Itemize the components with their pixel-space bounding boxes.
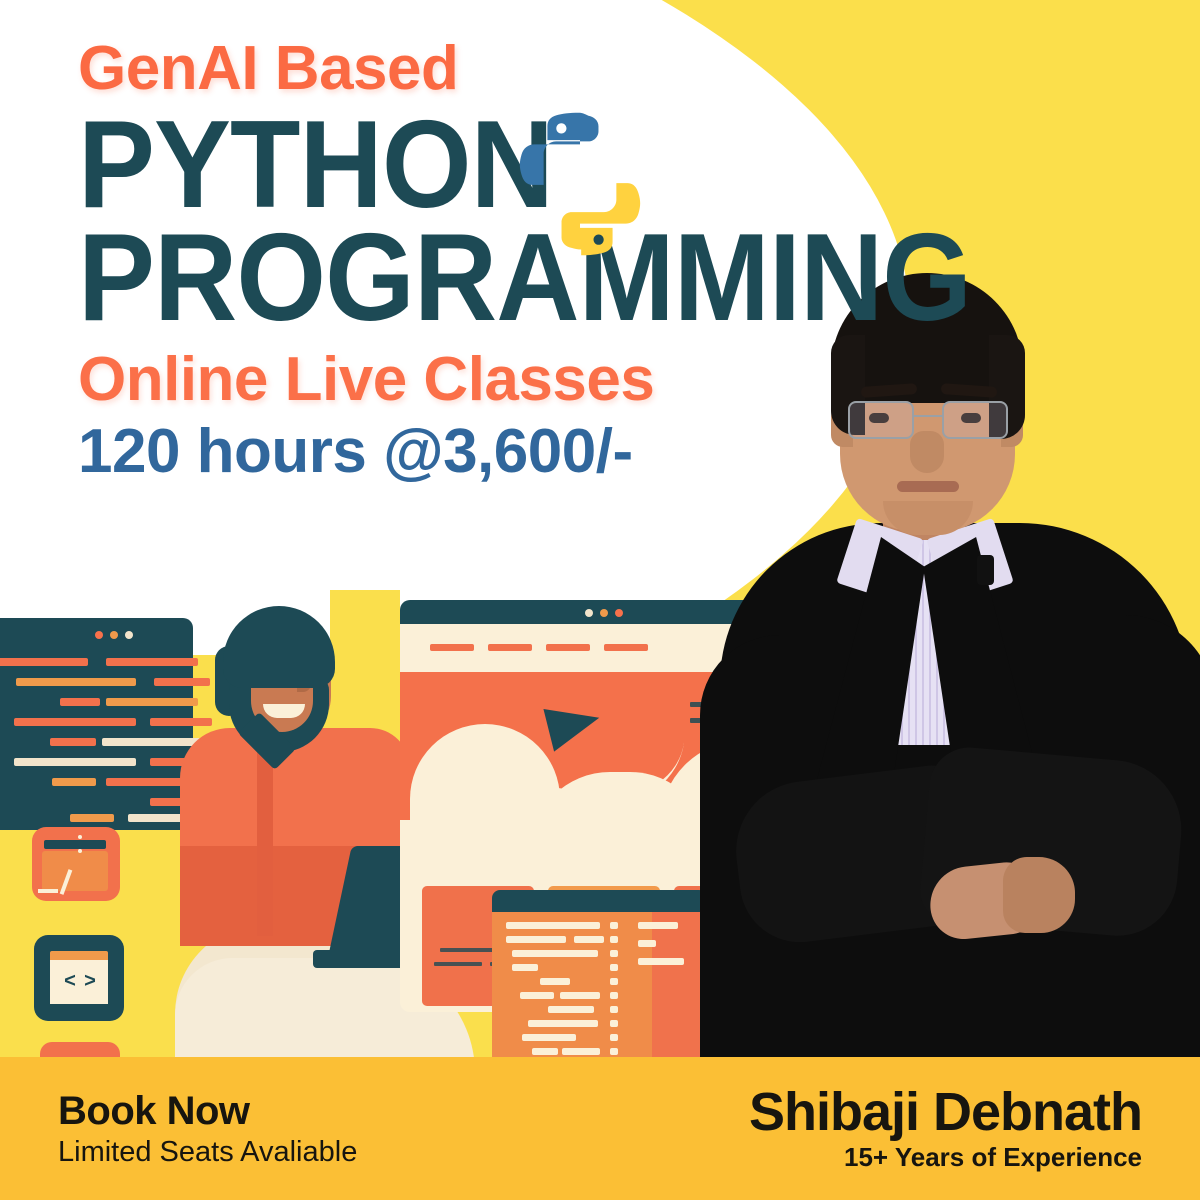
code-editor-window bbox=[0, 618, 193, 830]
headline-hours-price: 120 hours @3,600/- bbox=[78, 416, 908, 487]
code-brackets-icon: < > bbox=[34, 935, 124, 1021]
footer-instructor: Shibaji Debnath 15+ Years of Experience bbox=[749, 1084, 1142, 1174]
headline-genai: GenAI Based bbox=[78, 36, 908, 101]
headline-online-live-classes: Online Live Classes bbox=[78, 346, 908, 414]
instructor-experience: 15+ Years of Experience bbox=[749, 1142, 1142, 1173]
book-now-label[interactable]: Book Now bbox=[58, 1089, 357, 1133]
limited-seats-label: Limited Seats Avaliable bbox=[58, 1136, 357, 1169]
window-dots bbox=[95, 631, 133, 639]
instructor-name: Shibaji Debnath bbox=[749, 1084, 1142, 1141]
headline-programming: PROGRAMMING bbox=[78, 220, 850, 337]
headline-python: PYTHON bbox=[78, 107, 850, 224]
terminal-icon bbox=[32, 827, 120, 901]
code-glyph: < > bbox=[64, 971, 94, 994]
poster-canvas: < > bbox=[0, 0, 1200, 1200]
headline-block: GenAI Based PYTHON PROGRAMMING Online Li… bbox=[78, 36, 908, 488]
footer-cta[interactable]: Book Now Limited Seats Avaliable bbox=[58, 1089, 357, 1169]
python-logo-icon bbox=[500, 104, 660, 264]
footer-bar: Book Now Limited Seats Avaliable Shibaji… bbox=[0, 1057, 1200, 1200]
